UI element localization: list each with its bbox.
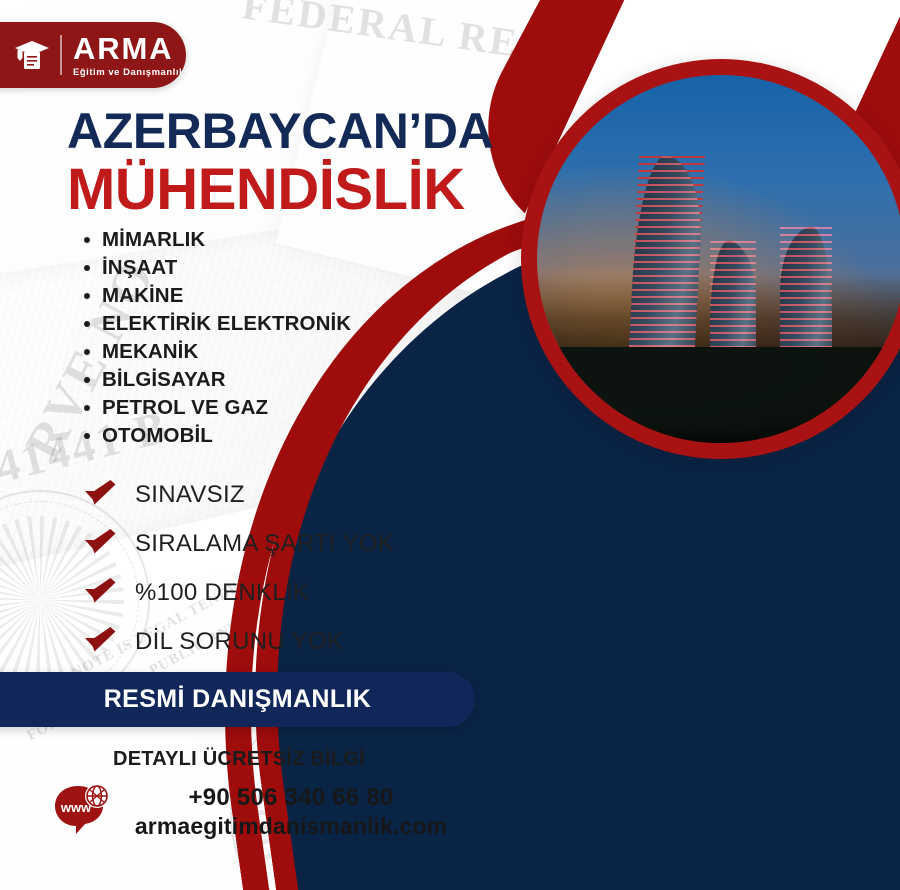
contact-details: +90 506 340 66 80 armaegitimdanismanlik.…: [96, 783, 486, 840]
program-label: PETROL VE GAZ: [102, 396, 268, 420]
graduation-cap-icon: [12, 35, 52, 75]
program-label: OTOMOBİL: [102, 424, 213, 448]
benefit-label: SINAVSIZ: [135, 481, 245, 509]
list-item: ELEKTİRİK ELEKTRONİK: [84, 310, 351, 338]
contact-heading: DETAYLI ÜCRETSİZ BİLGİ: [0, 748, 478, 771]
list-item: PETROL VE GAZ: [84, 394, 351, 422]
bullet-dot-icon: [84, 433, 90, 439]
program-label: İNŞAAT: [102, 256, 177, 280]
list-item: OTOMOBİL: [84, 422, 351, 450]
list-item: MEKANİK: [84, 338, 351, 366]
bullet-dot-icon: [84, 237, 90, 243]
check-mark-icon: [84, 478, 118, 512]
program-label: ELEKTİRİK ELEKTRONİK: [102, 312, 351, 336]
check-mark-icon: [84, 527, 118, 561]
list-item: SIRALAMA ŞARTI YOK: [84, 519, 394, 568]
check-mark-icon: [84, 576, 118, 610]
benefit-label: %100 DENKLİK: [135, 579, 309, 607]
bullet-dot-icon: [84, 265, 90, 271]
program-label: MAKİNE: [102, 284, 183, 308]
headline-line-2: MÜHENDİSLİK: [67, 161, 465, 219]
photo-tree-line: [537, 347, 900, 443]
logo-divider: [60, 35, 62, 75]
bullet-dot-icon: [84, 321, 90, 327]
list-item: İNŞAAT: [84, 254, 351, 282]
bullet-dot-icon: [84, 377, 90, 383]
benefit-list: SINAVSIZ SIRALAMA ŞARTI YOK %100 DENKLİK…: [84, 470, 394, 666]
program-label: MEKANİK: [102, 340, 198, 364]
list-item: %100 DENKLİK: [84, 568, 394, 617]
program-label: BİLGİSAYAR: [102, 368, 226, 392]
headline-line-1: AZERBAYCAN’DA: [67, 106, 493, 156]
benefit-label: SIRALAMA ŞARTI YOK: [135, 530, 394, 558]
brand-logo: ARMA Eğitim ve Danışmanlık: [0, 22, 186, 88]
bullet-dot-icon: [84, 349, 90, 355]
list-item: BİLGİSAYAR: [84, 366, 351, 394]
list-item: MAKİNE: [84, 282, 351, 310]
bullet-dot-icon: [84, 405, 90, 411]
logo-tagline: Eğitim ve Danışmanlık: [73, 68, 185, 78]
program-list: MİMARLIK İNŞAAT MAKİNE ELEKTİRİK ELEKTRO…: [84, 226, 351, 450]
check-mark-icon: [84, 625, 118, 659]
list-item: SINAVSIZ: [84, 470, 394, 519]
photo-circle-frame: [521, 59, 900, 459]
list-item: MİMARLIK: [84, 226, 351, 254]
benefit-label: DİL SORUNU YOK: [135, 628, 343, 656]
official-consultancy-banner[interactable]: RESMİ DANIŞMANLIK: [0, 672, 475, 727]
contact-website[interactable]: armaegitimdanismanlik.com: [96, 812, 486, 840]
cta-label: RESMİ DANIŞMANLIK: [104, 685, 371, 714]
bullet-dot-icon: [84, 293, 90, 299]
program-label: MİMARLIK: [102, 228, 205, 252]
list-item: DİL SORUNU YOK: [84, 617, 394, 666]
contact-phone[interactable]: +90 506 340 66 80: [96, 783, 486, 812]
photo-baku-flame-towers: [537, 75, 900, 443]
poster-canvas: RVE NO 41441 B THIS NOTE IS LEGAL TENDER…: [0, 0, 900, 890]
logo-name: ARMA: [73, 33, 185, 64]
